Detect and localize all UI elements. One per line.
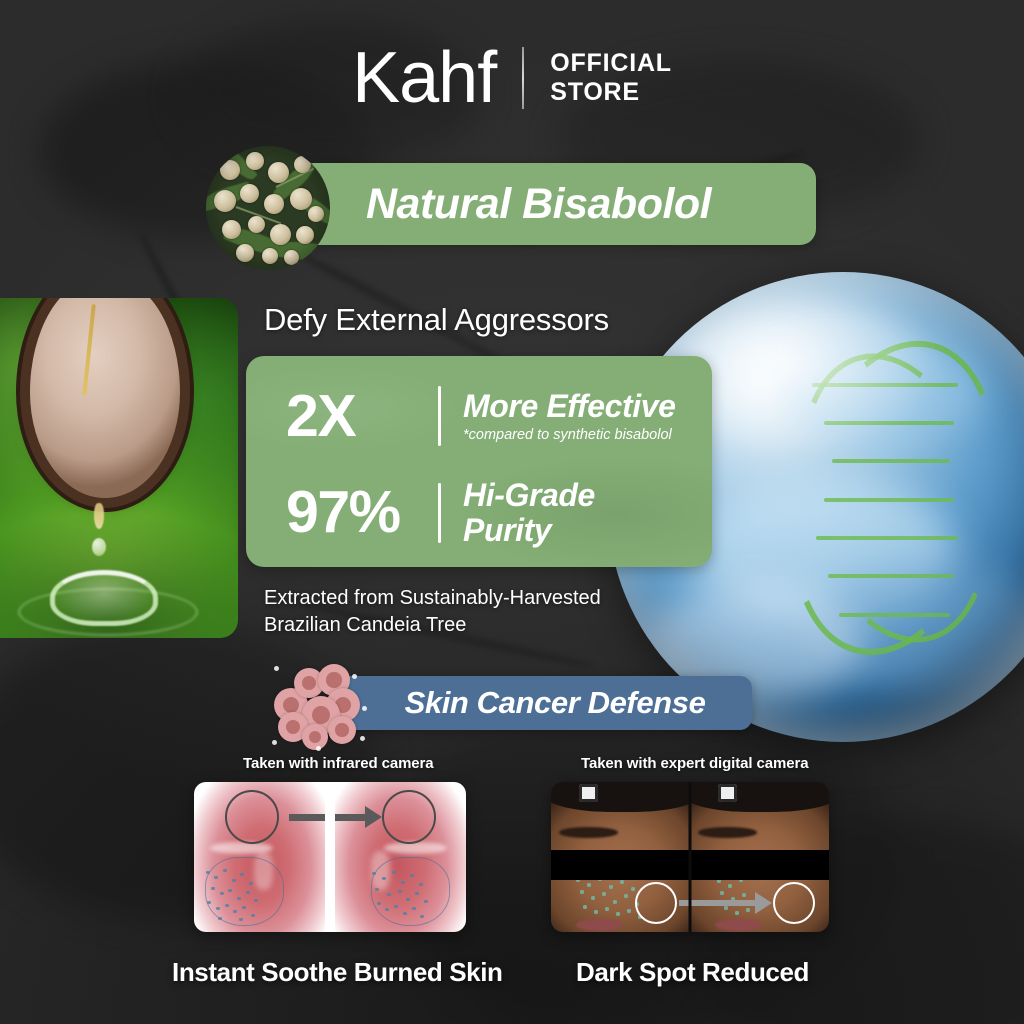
source-caption: Extracted from Sustainably-Harvested Bra… [264,585,601,639]
header-divider [522,47,524,109]
infrared-marker-after [382,790,436,844]
official-line-2: STORE [550,78,672,108]
digital-camera-caption: Taken with expert digital camera [581,755,808,772]
infrared-camera-caption: Taken with infrared camera [243,755,434,772]
stat-divider [438,386,441,446]
digital-result-caption: Dark Spot Reduced [576,957,809,988]
advertisement-canvas: Kahf OFFICIAL STORE Natural Bisabolol [0,0,1024,1024]
digital-comparison-image [551,782,829,932]
infrared-comparison-image [194,782,466,932]
brand-name: Kahf [352,42,496,114]
stat-value: 97% [286,483,434,542]
stat-footnote: *compared to synthetic bisabolol [463,427,676,443]
skin-cancer-defense-banner: Skin Cancer Defense [330,676,752,730]
natural-bisabolol-label: Natural Bisabolol [366,180,711,229]
infrared-marker-before [225,790,279,844]
source-caption-line-2: Brazilian Candeia Tree [264,612,601,639]
candeia-plant-photo-icon [206,146,330,270]
digital-marker-after [773,882,815,924]
stat-divider [438,483,441,543]
stat-value: 2X [286,387,434,446]
stat-label: More Effective [463,389,676,424]
official-line-1: OFFICIAL [550,49,672,79]
natural-bisabolol-banner: Natural Bisabolol [298,163,816,245]
stats-card: 2X More Effective *compared to synthetic… [246,356,712,567]
skin-cancer-defense-label: Skin Cancer Defense [377,685,706,721]
stat-label: Hi-Grade Purity [463,478,663,547]
cancer-cell-cluster-icon [272,662,368,750]
stat-row: 2X More Effective *compared to synthetic… [286,386,676,446]
digital-marker-before [635,882,677,924]
source-caption-line-1: Extracted from Sustainably-Harvested [264,585,601,612]
infrared-result-caption: Instant Soothe Burned Skin [172,957,503,988]
official-store-label: OFFICIAL STORE [550,49,672,108]
brand-header: Kahf OFFICIAL STORE [0,42,1024,114]
page-heading: Defy External Aggressors [264,302,609,338]
candeia-wood-oil-photo [0,298,238,638]
stat-row: 97% Hi-Grade Purity [286,478,663,547]
